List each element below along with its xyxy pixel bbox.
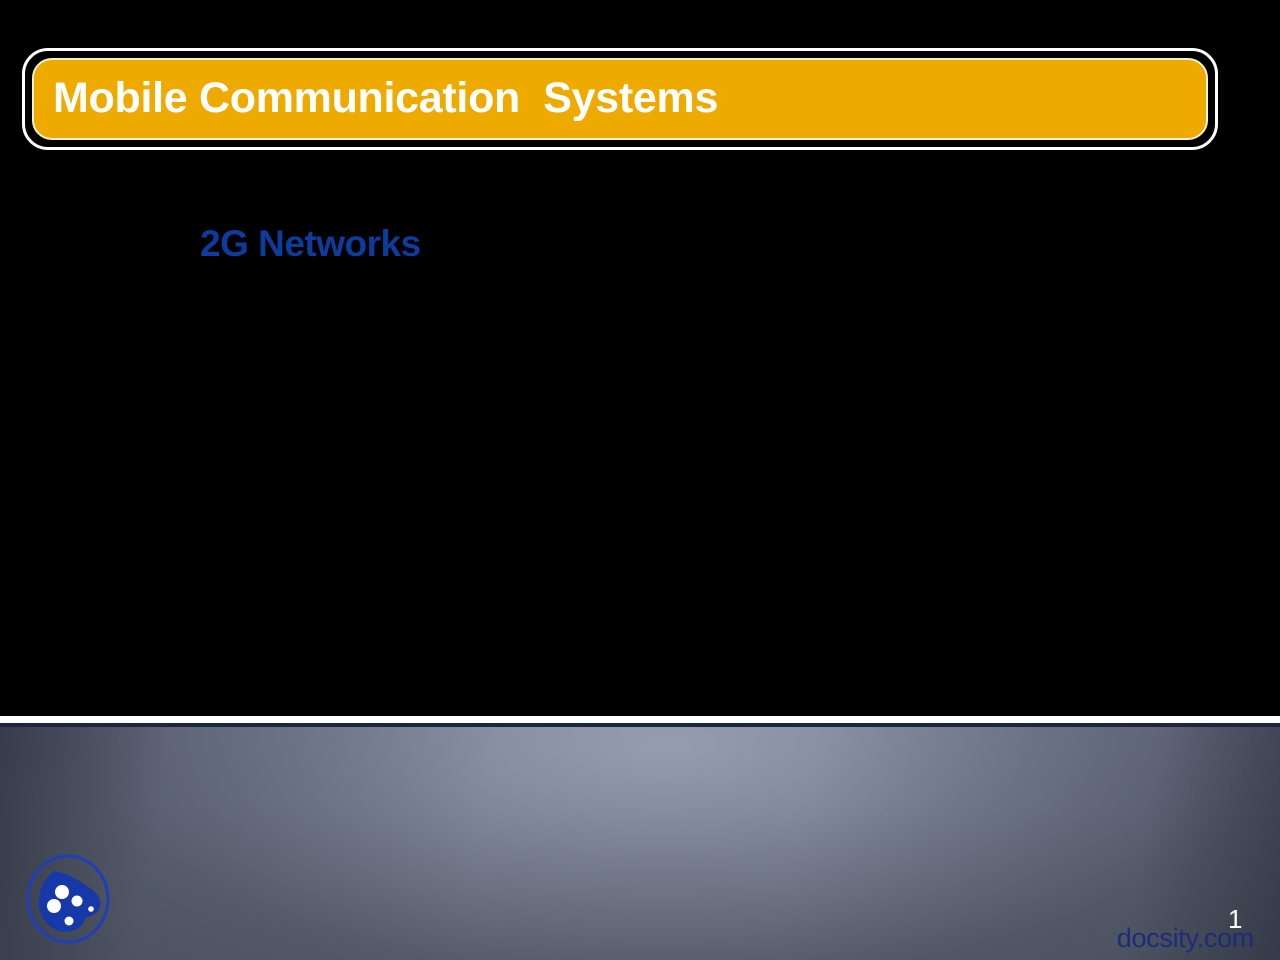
title-banner-fill: Mobile Communication Systems	[32, 58, 1208, 140]
footer-gradient-overlay	[0, 727, 1280, 960]
page-number: 1	[1228, 906, 1242, 932]
slide-body: 2G Networks	[0, 150, 1280, 716]
footer-separator-white	[0, 716, 1280, 723]
docsity-logo-icon	[24, 853, 112, 945]
subtitle-heading: 2G Networks	[200, 225, 421, 262]
footer-panel	[0, 727, 1280, 960]
presentation-slide: Mobile Communication Systems 2G Networks…	[0, 0, 1280, 960]
title-banner: Mobile Communication Systems	[22, 48, 1218, 150]
page-title: Mobile Communication Systems	[34, 77, 718, 120]
